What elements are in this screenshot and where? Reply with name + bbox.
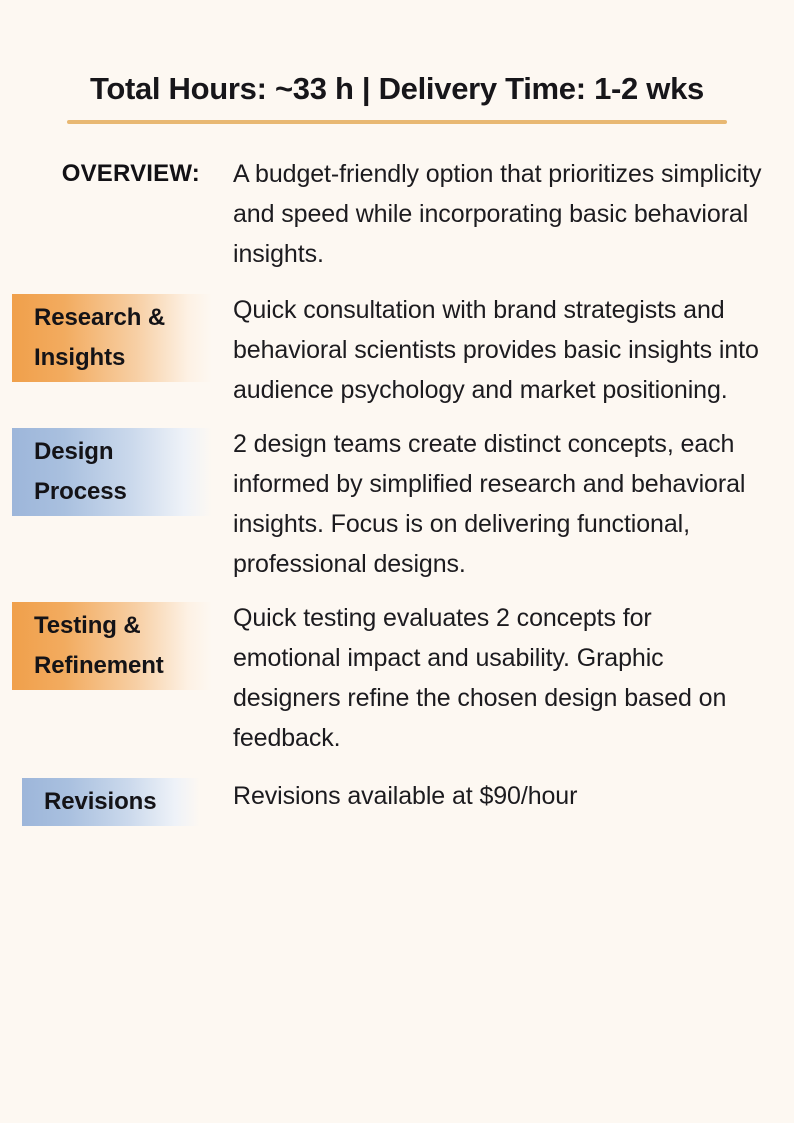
revisions-body-cell: Revisions available at $90/hour — [212, 776, 794, 816]
revisions-chip: Revisions — [22, 778, 200, 826]
research-insights-body-cell: Quick consultation with brand strategist… — [212, 290, 794, 410]
revisions-label-cell: Revisions — [0, 776, 212, 826]
testing-refinement-label-cell: Testing & Refinement — [0, 598, 212, 690]
section-row-research-insights: Research & Insights Quick consultation w… — [0, 290, 794, 410]
chip-label-line: Refinement — [34, 646, 212, 686]
design-process-body-cell: 2 design teams create distinct concepts,… — [212, 424, 794, 584]
overview-label-cell: OVERVIEW: — [0, 154, 212, 194]
overview-body-cell: A budget-friendly option that prioritize… — [212, 154, 794, 274]
page-title: Total Hours: ~33 h | Delivery Time: 1-2 … — [0, 72, 794, 106]
chip-label-line: Process — [34, 472, 212, 512]
chip-label-line: Design — [34, 432, 212, 472]
overview-text: A budget-friendly option that prioritize… — [233, 154, 764, 274]
design-process-label-cell: Design Process — [0, 424, 212, 516]
research-insights-chip: Research & Insights — [12, 294, 212, 382]
sections-list: OVERVIEW: A budget-friendly option that … — [0, 154, 794, 826]
testing-refinement-chip: Testing & Refinement — [12, 602, 212, 690]
chip-label-line: Insights — [34, 338, 212, 378]
overview-label: OVERVIEW: — [0, 154, 212, 194]
section-row-design-process: Design Process 2 design teams create dis… — [0, 424, 794, 584]
pricing-tier-card: Total Hours: ~33 h | Delivery Time: 1-2 … — [0, 0, 794, 1123]
research-insights-text: Quick consultation with brand strategist… — [233, 290, 764, 410]
title-underline-divider — [67, 120, 727, 124]
chip-label-line: Revisions — [44, 782, 200, 822]
card-header: Total Hours: ~33 h | Delivery Time: 1-2 … — [0, 0, 794, 124]
design-process-chip: Design Process — [12, 428, 212, 516]
section-row-testing-refinement: Testing & Refinement Quick testing evalu… — [0, 598, 794, 758]
chip-label-line: Research & — [34, 298, 212, 338]
testing-refinement-text: Quick testing evaluates 2 concepts for e… — [233, 598, 764, 758]
research-insights-label-cell: Research & Insights — [0, 290, 212, 382]
testing-refinement-body-cell: Quick testing evaluates 2 concepts for e… — [212, 598, 794, 758]
section-row-revisions: Revisions Revisions available at $90/hou… — [0, 776, 794, 826]
design-process-text: 2 design teams create distinct concepts,… — [233, 424, 764, 584]
chip-label-line: Testing & — [34, 606, 212, 646]
section-row-overview: OVERVIEW: A budget-friendly option that … — [0, 154, 794, 274]
revisions-text: Revisions available at $90/hour — [233, 776, 764, 816]
